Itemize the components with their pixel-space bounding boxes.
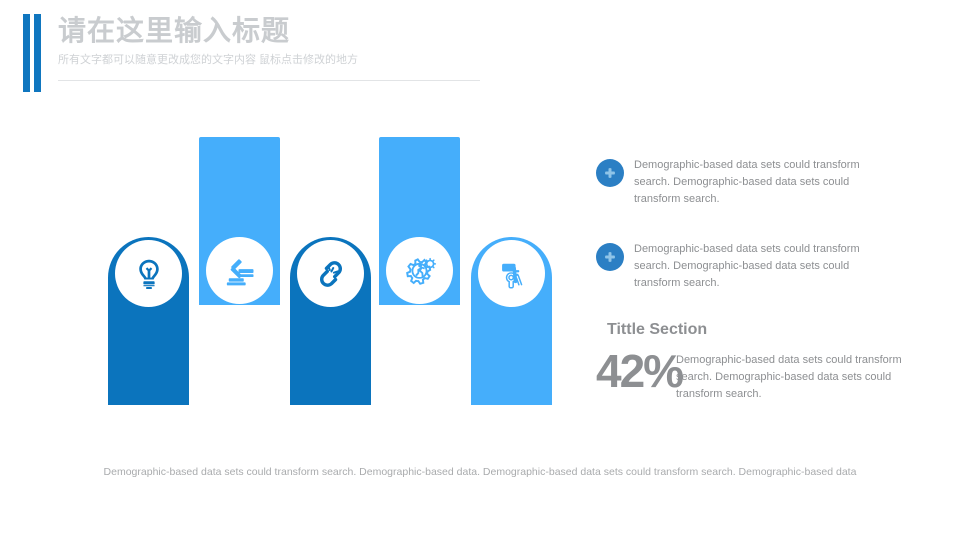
pillar-1-circle — [115, 240, 182, 307]
pillar-4-circle — [386, 237, 453, 304]
pillar-5-circle — [478, 240, 545, 307]
lightbulb-icon — [131, 256, 167, 292]
pillar-group — [0, 0, 560, 420]
plus-icon — [596, 159, 624, 187]
stat-number: 42% — [596, 348, 682, 394]
pillar-3-circle — [297, 240, 364, 307]
stat-title: Tittle Section — [607, 320, 926, 340]
keys-icon — [495, 257, 529, 291]
pillar-2-circle — [206, 237, 273, 304]
person-in-gear-icon — [402, 253, 438, 289]
stat-block: Tittle Section 42% Demographic-based dat… — [596, 320, 926, 402]
bullet-item-2-text: Demographic-based data sets could transf… — [634, 241, 894, 292]
bullet-item-1-text: Demographic-based data sets could transf… — [634, 157, 894, 208]
bullet-item-1[interactable]: Demographic-based data sets could transf… — [596, 157, 926, 208]
footer-caption: Demographic-based data sets could transf… — [40, 458, 920, 486]
plus-icon — [596, 243, 624, 271]
gavel-icon — [222, 253, 258, 289]
stat-description: Demographic-based data sets could transf… — [676, 352, 926, 403]
broken-chain-icon — [313, 256, 349, 292]
bullet-item-2[interactable]: Demographic-based data sets could transf… — [596, 241, 926, 292]
stat-body: 42% Demographic-based data sets could tr… — [596, 340, 926, 402]
